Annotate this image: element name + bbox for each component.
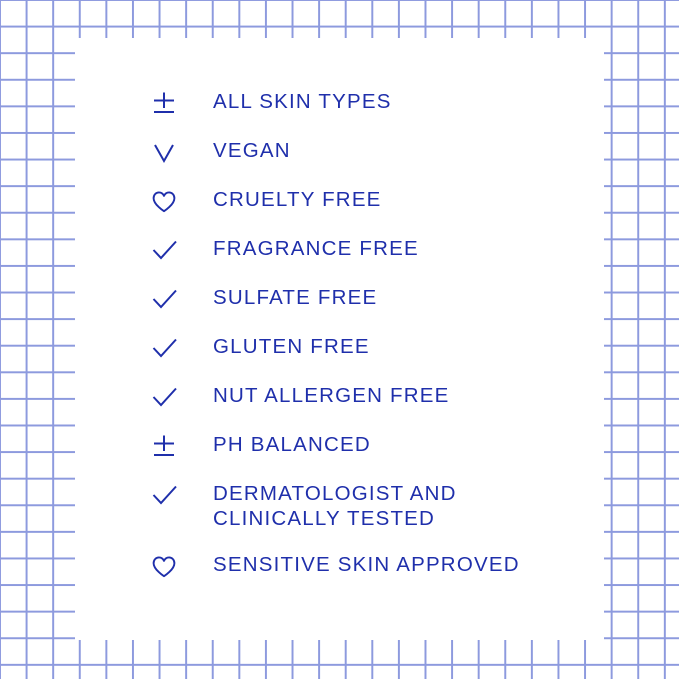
vegan-v-icon [151, 137, 191, 168]
checkmark-icon [151, 235, 191, 266]
claims-card: ALL SKIN TYPES VEGAN CRUELTY FREE [75, 38, 604, 640]
list-item: FRAGRANCE FREE [151, 235, 591, 284]
checkmark-icon [151, 480, 191, 511]
claims-list: ALL SKIN TYPES VEGAN CRUELTY FREE [151, 88, 591, 600]
plus-minus-icon [151, 431, 191, 462]
list-item-label: NUT ALLERGEN FREE [191, 382, 449, 408]
list-item-label: ALL SKIN TYPES [191, 88, 392, 114]
heart-outline-icon [151, 551, 191, 582]
list-item: SENSITIVE SKIN APPROVED [151, 551, 591, 600]
list-item-label: CRUELTY FREE [191, 186, 382, 212]
plus-minus-icon [151, 88, 191, 119]
list-item-label: GLUTEN FREE [191, 333, 370, 359]
list-item-label: DERMATOLOGIST AND CLINICALLY TESTED [191, 480, 457, 531]
checkmark-icon [151, 284, 191, 315]
list-item-label: PH BALANCED [191, 431, 371, 457]
list-item: VEGAN [151, 137, 591, 186]
checkmark-icon [151, 382, 191, 413]
list-item: CRUELTY FREE [151, 186, 591, 235]
list-item: DERMATOLOGIST AND CLINICALLY TESTED [151, 480, 591, 551]
list-item: ALL SKIN TYPES [151, 88, 591, 137]
list-item: NUT ALLERGEN FREE [151, 382, 591, 431]
list-item-label: SENSITIVE SKIN APPROVED [191, 551, 520, 577]
list-item: SULFATE FREE [151, 284, 591, 333]
heart-outline-icon [151, 186, 191, 217]
list-item-label: FRAGRANCE FREE [191, 235, 419, 261]
list-item: PH BALANCED [151, 431, 591, 480]
list-item-label: VEGAN [191, 137, 291, 163]
checkmark-icon [151, 333, 191, 364]
list-item: GLUTEN FREE [151, 333, 591, 382]
product-claims-infographic: ALL SKIN TYPES VEGAN CRUELTY FREE [0, 0, 679, 679]
list-item-label: SULFATE FREE [191, 284, 377, 310]
